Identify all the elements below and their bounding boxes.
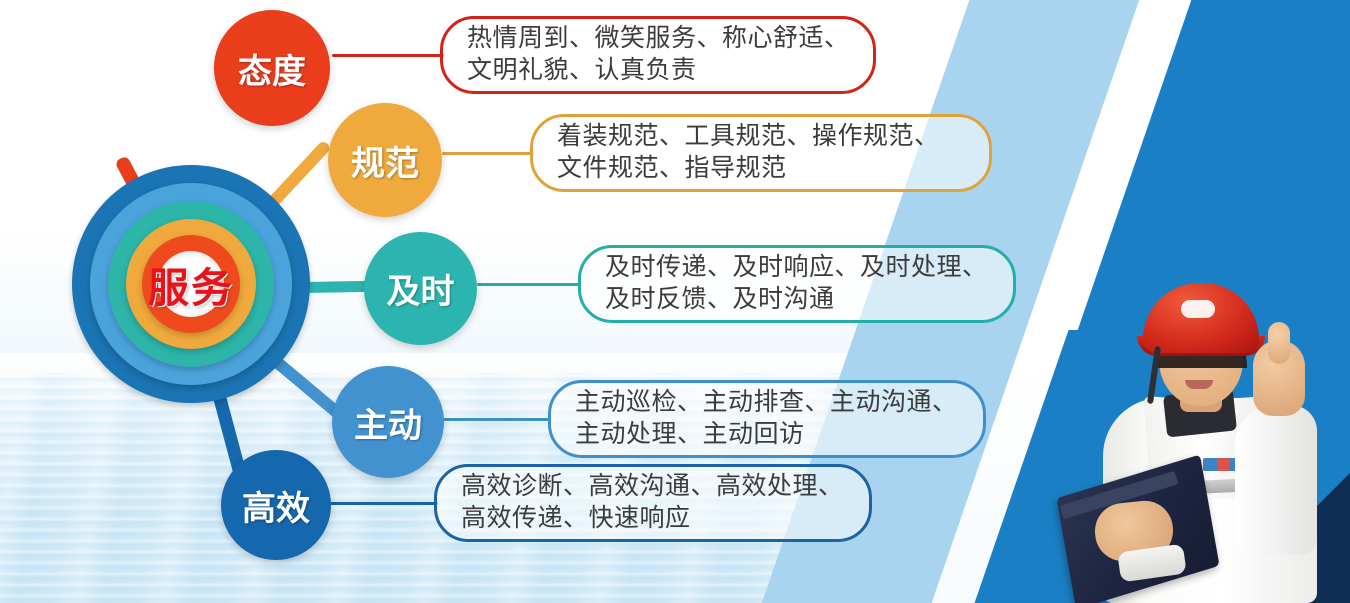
connector-standard bbox=[442, 152, 534, 155]
node-proactive[interactable]: 主动 bbox=[332, 366, 444, 478]
worker-photo bbox=[1085, 280, 1335, 603]
card-line: 文件规范、指导规范 bbox=[557, 152, 940, 185]
card-line: 着装规范、工具规范、操作规范、 bbox=[557, 120, 940, 153]
card-line: 文明礼貌、认真负责 bbox=[467, 54, 850, 87]
card-text-proactive: 主动巡检、主动排查、主动沟通、 主动处理、主动回访 bbox=[575, 386, 958, 451]
connector-timely bbox=[477, 283, 581, 286]
card-text-attitude: 热情周到、微笑服务、称心舒适、 文明礼貌、认真负责 bbox=[467, 22, 850, 87]
card-attitude: 热情周到、微笑服务、称心舒适、 文明礼貌、认真负责 bbox=[440, 16, 876, 94]
card-line: 高效诊断、高效沟通、高效处理、 bbox=[461, 470, 844, 503]
concentric-rings: 服务 bbox=[72, 165, 310, 403]
node-label-efficient: 高效 bbox=[242, 481, 310, 530]
node-label-standard: 规范 bbox=[351, 136, 419, 185]
card-line: 及时传递、及时响应、及时处理、 bbox=[605, 251, 988, 284]
connector-efficient bbox=[330, 502, 438, 505]
node-attitude[interactable]: 态度 bbox=[214, 10, 330, 126]
card-standard: 着装规范、工具规范、操作规范、 文件规范、指导规范 bbox=[530, 114, 992, 192]
card-line: 主动巡检、主动排查、主动沟通、 bbox=[575, 386, 958, 419]
connector-attitude bbox=[332, 54, 444, 57]
card-line: 高效传递、快速响应 bbox=[461, 502, 844, 535]
card-proactive: 主动巡检、主动排查、主动沟通、 主动处理、主动回访 bbox=[548, 380, 986, 458]
card-line: 及时反馈、及时沟通 bbox=[605, 283, 988, 316]
card-text-standard: 着装规范、工具规范、操作规范、 文件规范、指导规范 bbox=[557, 120, 940, 185]
worker-helmet bbox=[1143, 283, 1259, 353]
node-label-proactive: 主动 bbox=[354, 398, 422, 447]
card-text-timely: 及时传递、及时响应、及时处理、 及时反馈、及时沟通 bbox=[605, 251, 988, 316]
card-line: 热情周到、微笑服务、称心舒适、 bbox=[467, 22, 850, 55]
center-label: 服务 bbox=[148, 254, 234, 314]
connector-proactive bbox=[443, 418, 551, 421]
thumbs-up-icon bbox=[1268, 322, 1290, 364]
card-text-efficient: 高效诊断、高效沟通、高效处理、 高效传递、快速响应 bbox=[461, 470, 844, 535]
infographic-canvas: 服务 态度 规范 及时 主动 高效 热情周到、微笑服务、称心舒适、 文明礼貌、认… bbox=[0, 0, 1350, 603]
node-efficient[interactable]: 高效 bbox=[221, 450, 331, 560]
worker-arm bbox=[1235, 405, 1317, 555]
node-label-attitude: 态度 bbox=[238, 44, 306, 93]
center-core: 服务 bbox=[158, 251, 224, 317]
node-label-timely: 及时 bbox=[387, 264, 455, 313]
node-standard[interactable]: 规范 bbox=[328, 103, 442, 217]
card-line: 主动处理、主动回访 bbox=[575, 418, 958, 451]
node-timely[interactable]: 及时 bbox=[364, 232, 477, 345]
card-efficient: 高效诊断、高效沟通、高效处理、 高效传递、快速响应 bbox=[434, 464, 872, 542]
card-timely: 及时传递、及时响应、及时处理、 及时反馈、及时沟通 bbox=[578, 245, 1016, 323]
worker-helmet-logo bbox=[1181, 300, 1215, 318]
